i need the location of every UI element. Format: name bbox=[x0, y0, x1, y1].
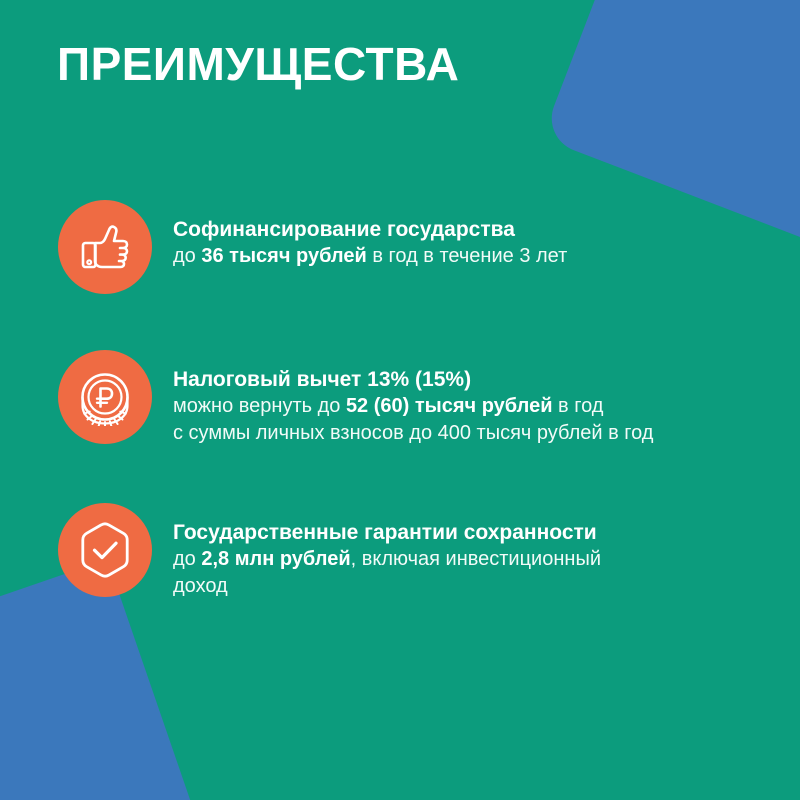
benefit-text-segment: до bbox=[173, 245, 201, 267]
benefit-text-segment: доход bbox=[173, 575, 228, 597]
benefit-title: Налоговый вычет 13% (15%) bbox=[173, 366, 653, 393]
page-title: ПРЕИМУЩЕСТВА bbox=[57, 40, 459, 88]
benefit-highlight: 52 (60) тысяч рублей bbox=[346, 395, 553, 417]
benefit-text-segment: в год в течение 3 лет bbox=[367, 245, 568, 267]
benefit-text-segment: можно вернуть до bbox=[173, 395, 346, 417]
benefit-title: Софинансирование государства bbox=[173, 216, 567, 243]
benefit-description-line: с суммы личных взносов до 400 тысяч рубл… bbox=[173, 420, 653, 447]
benefit-text-block: Налоговый вычет 13% (15%)можно вернуть д… bbox=[152, 350, 653, 447]
benefit-item: Государственные гарантии сохранностидо 2… bbox=[0, 503, 800, 600]
benefit-icon-badge bbox=[58, 503, 152, 597]
benefit-title: Государственные гарантии сохранности bbox=[173, 519, 601, 546]
benefit-text-segment: с суммы личных взносов до 400 тысяч рубл… bbox=[173, 422, 653, 444]
benefit-text-block: Государственные гарантии сохранностидо 2… bbox=[152, 503, 601, 600]
benefit-description-line: до 36 тысяч рублей в год в течение 3 лет bbox=[173, 243, 567, 270]
benefit-highlight: 36 тысяч рублей bbox=[201, 245, 366, 267]
hexagon-check-icon bbox=[76, 521, 134, 579]
benefit-text-segment: до bbox=[173, 548, 201, 570]
benefit-description-line: до 2,8 млн рублей, включая инвестиционны… bbox=[173, 546, 601, 573]
benefit-item: Налоговый вычет 13% (15%)можно вернуть д… bbox=[0, 350, 800, 447]
benefit-item: Софинансирование государствадо 36 тысяч … bbox=[0, 200, 800, 294]
benefit-icon-badge bbox=[58, 200, 152, 294]
benefit-description-line: доход bbox=[173, 573, 601, 600]
benefit-highlight: 2,8 млн рублей bbox=[201, 548, 350, 570]
benefit-icon-badge bbox=[58, 350, 152, 444]
ruble-coin-icon bbox=[76, 368, 134, 426]
poster-canvas: ПРЕИМУЩЕСТВА Софинансирование государств… bbox=[0, 0, 800, 800]
benefit-description-line: можно вернуть до 52 (60) тысяч рублей в … bbox=[173, 393, 653, 420]
benefits-list: Софинансирование государствадо 36 тысяч … bbox=[0, 200, 800, 656]
benefit-text-segment: в год bbox=[553, 395, 604, 417]
benefit-text-segment: , включая инвестиционный bbox=[351, 548, 601, 570]
thumbs-up-icon bbox=[76, 218, 134, 276]
benefit-text-block: Софинансирование государствадо 36 тысяч … bbox=[152, 200, 567, 270]
